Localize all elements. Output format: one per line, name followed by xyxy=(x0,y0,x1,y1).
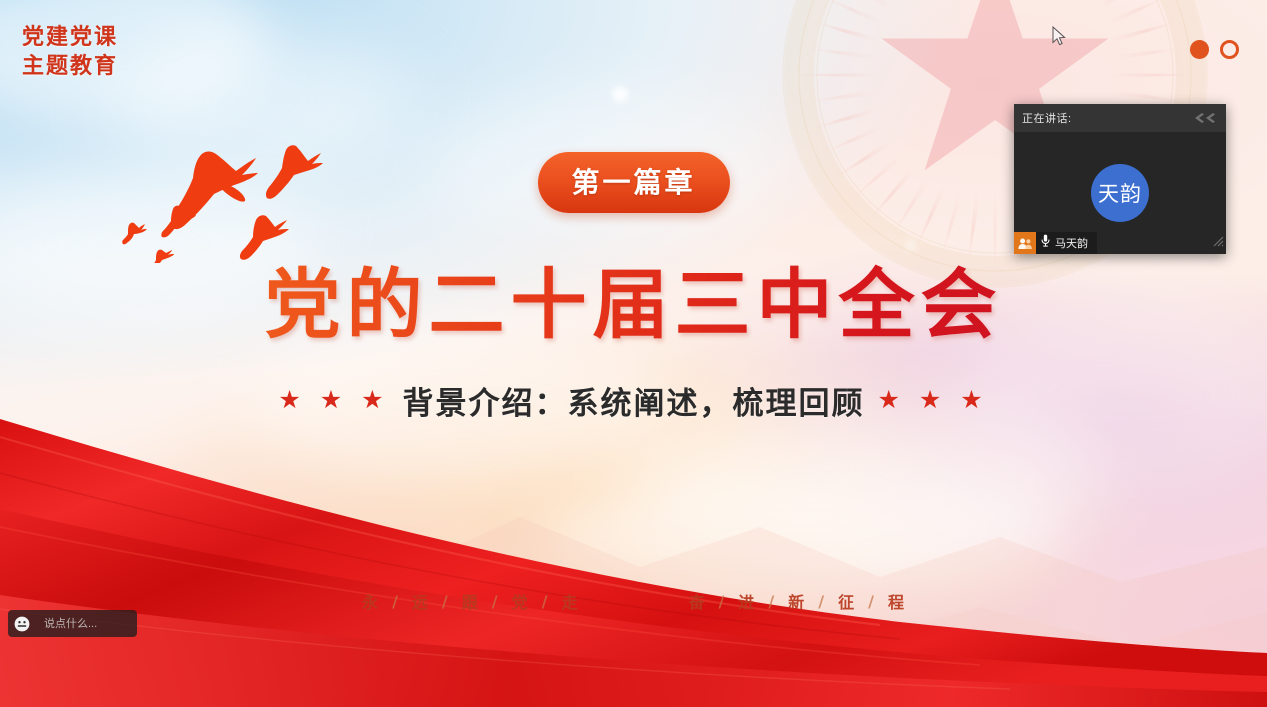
microphone-icon xyxy=(1041,234,1050,252)
stars-right-icon: ★ ★ ★ xyxy=(878,388,989,413)
filled-circle-icon xyxy=(1190,40,1209,59)
mouse-pointer-icon xyxy=(1052,26,1068,53)
avatar: 天韵 xyxy=(1091,164,1149,222)
page-title: 党的二十届三中全会 xyxy=(265,243,1003,353)
double-chevron-collapse-icon[interactable] xyxy=(1194,112,1218,124)
resize-grip-icon[interactable] xyxy=(1211,234,1224,252)
speaker-name-bar: 马天韵 xyxy=(1036,232,1097,254)
video-panel-header[interactable]: 正在讲话: xyxy=(1014,104,1226,132)
video-panel-title: 正在讲话: xyxy=(1022,110,1072,126)
smiley-emoji-icon[interactable] xyxy=(8,610,36,637)
speaker-name: 马天韵 xyxy=(1055,235,1088,251)
brand-logo: 党建党课 主题教育 xyxy=(22,23,118,81)
chapter-badge: 第一篇章 xyxy=(537,152,729,213)
video-panel-footer: 马天韵 xyxy=(1014,232,1226,254)
decorative-dots xyxy=(1190,40,1239,59)
presentation-slide: 党建党课 主题教育 第一篇章 党的二十届三中全会 ★ ★ ★ 背景介绍：系统阐述… xyxy=(0,0,1267,707)
stars-left-icon: ★ ★ ★ xyxy=(278,388,389,413)
participants-icon[interactable] xyxy=(1014,232,1036,254)
subtitle-text: 背景介绍：系统阐述，梳理回顾 xyxy=(403,378,865,423)
ring-circle-icon xyxy=(1220,40,1239,59)
bokeh-dot xyxy=(612,86,628,102)
subtitle-row: ★ ★ ★ 背景介绍：系统阐述，梳理回顾 ★ ★ ★ xyxy=(278,378,988,423)
chat-input-bar[interactable] xyxy=(8,610,137,637)
speaker-video-panel[interactable]: 正在讲话: 天韵 xyxy=(1014,104,1226,254)
brand-line-1: 党建党课 xyxy=(22,23,118,52)
red-silk-ribbon-icon xyxy=(0,377,1267,707)
chat-input[interactable] xyxy=(36,610,137,637)
brand-line-2: 主题教育 xyxy=(22,52,118,81)
video-panel-body[interactable]: 天韵 xyxy=(1014,132,1226,254)
